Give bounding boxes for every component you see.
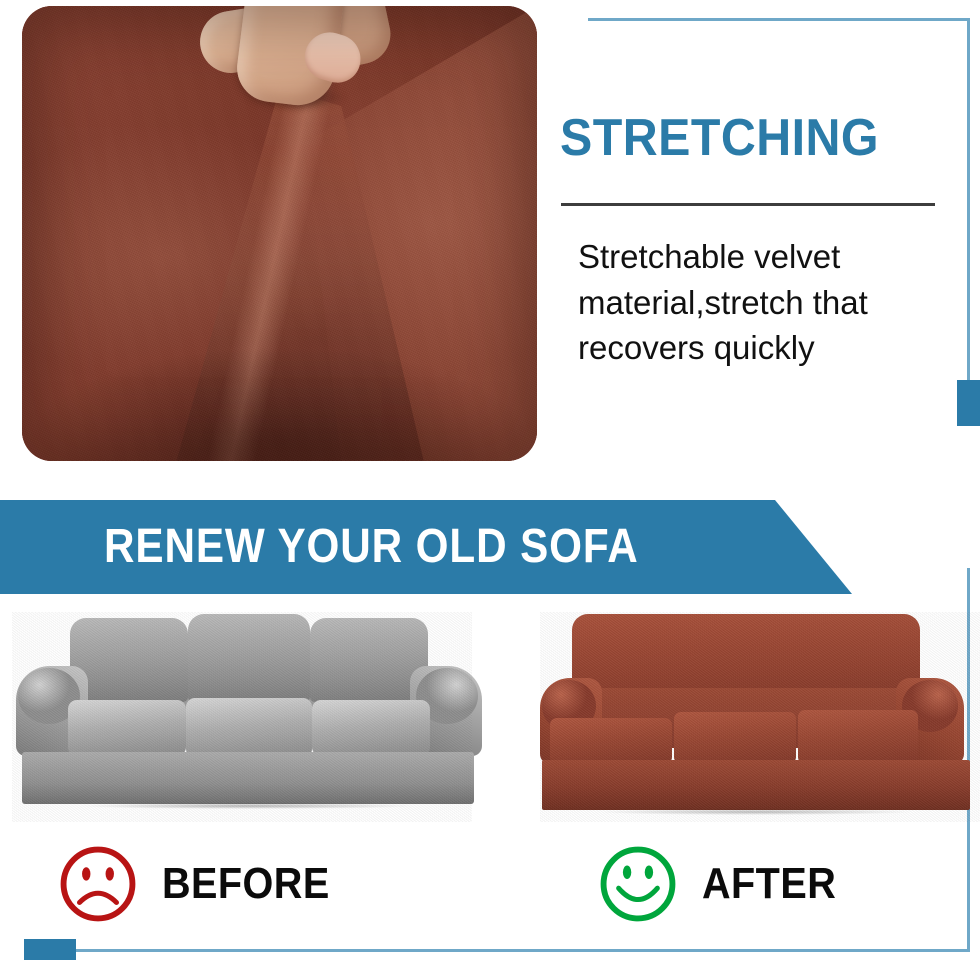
after-verdict: AFTER bbox=[596, 842, 851, 926]
seat-cushion-center bbox=[186, 698, 312, 758]
sofa-ground-shadow bbox=[26, 802, 470, 810]
after-sofa-image bbox=[540, 612, 980, 822]
seat-cushion-right bbox=[798, 710, 918, 764]
stretching-section: STRETCHING Stretchable velvet material,s… bbox=[0, 0, 980, 490]
after-label: AFTER bbox=[702, 859, 836, 909]
product-infographic: STRETCHING Stretchable velvet material,s… bbox=[0, 0, 980, 964]
seat-cushion-left bbox=[550, 718, 672, 764]
sofa-skirt bbox=[22, 752, 474, 804]
seat-cushion-right bbox=[312, 700, 430, 756]
before-verdict: BEFORE bbox=[56, 842, 348, 926]
headline-divider bbox=[561, 203, 935, 206]
stretching-fabric-photo bbox=[22, 6, 537, 461]
brown-slipcovered-sofa bbox=[540, 612, 980, 822]
before-sofa-image bbox=[12, 612, 472, 822]
happy-face-icon bbox=[596, 842, 680, 926]
sad-face-icon bbox=[56, 842, 140, 926]
seat-cushion-left bbox=[68, 700, 186, 756]
renew-banner: RENEW YOUR OLD SOFA bbox=[0, 500, 852, 594]
seat-cushion-center bbox=[674, 712, 796, 764]
before-label: BEFORE bbox=[162, 859, 330, 909]
stretching-headline: STRETCHING bbox=[560, 112, 923, 164]
back-cushion-center bbox=[188, 614, 310, 702]
fabric-vignette bbox=[22, 6, 537, 461]
sofa-skirt bbox=[542, 760, 970, 810]
gray-sofa bbox=[12, 612, 472, 822]
before-after-comparison: BEFORE AFTER bbox=[0, 594, 980, 964]
sofa-ground-shadow bbox=[546, 808, 966, 816]
renew-banner-title: RENEW YOUR OLD SOFA bbox=[104, 514, 639, 580]
stretching-body-text: Stretchable velvet material,stretch that… bbox=[578, 234, 950, 371]
